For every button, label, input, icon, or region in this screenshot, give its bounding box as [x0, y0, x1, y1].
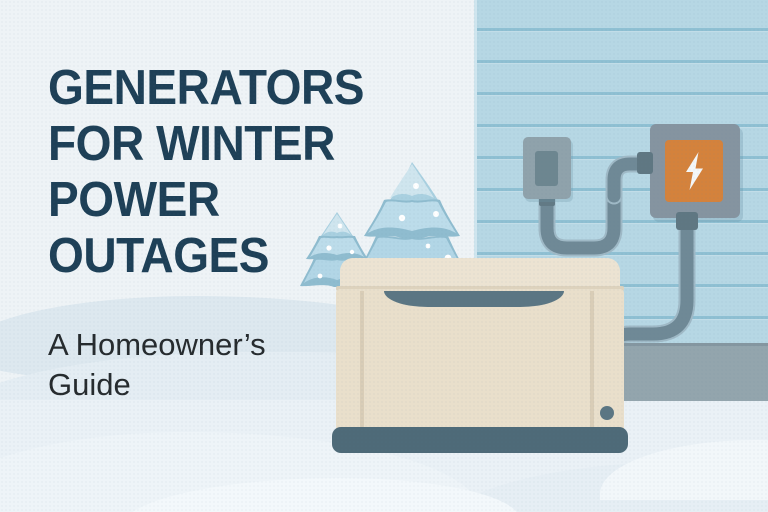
standby-generator[interactable] — [332, 258, 628, 454]
generator-panel-seam — [360, 291, 364, 429]
switch-orange-panel — [665, 140, 723, 202]
switch-bottom-connector — [676, 212, 698, 230]
lightning-bolt-icon — [680, 151, 708, 191]
page-subtitle: A Homeowner’s Guide — [48, 325, 348, 405]
electric-meter-box[interactable] — [523, 137, 571, 199]
generator-panel-seam — [590, 291, 594, 429]
generator-base-pad — [332, 427, 628, 453]
subtitle-line-1: A Homeowner’s — [48, 325, 348, 365]
meter-face — [535, 151, 558, 186]
subtitle-line-2: Guide — [48, 365, 348, 405]
headline-line-2: FOR WINTER — [48, 116, 386, 172]
headline-line-3: POWER — [48, 172, 386, 228]
generator-vent — [384, 291, 564, 307]
page-title: GENERATORS FOR WINTER POWER OUTAGES — [48, 60, 386, 284]
headline-line-1: GENERATORS — [48, 60, 386, 116]
automatic-transfer-switch[interactable] — [650, 124, 740, 218]
winter-generator-poster: GENERATORS FOR WINTER POWER OUTAGES A Ho… — [0, 0, 768, 512]
headline-line-4: OUTAGES — [48, 228, 386, 284]
switch-left-connector — [637, 152, 653, 174]
generator-control-knob[interactable] — [600, 406, 614, 420]
generator-body — [336, 289, 624, 429]
